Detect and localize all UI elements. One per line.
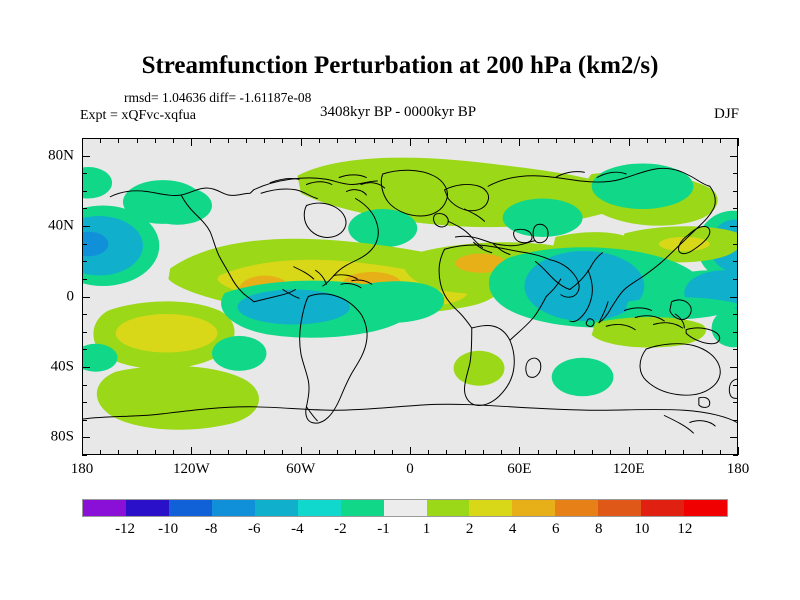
x-axis-label: 60E <box>507 461 531 478</box>
x-axis-tick <box>100 450 101 455</box>
x-axis-tick <box>665 450 666 455</box>
x-axis-tick <box>720 138 721 143</box>
x-axis-tick <box>392 450 393 455</box>
x-axis-tick <box>264 138 265 143</box>
x-axis-tick <box>282 138 283 143</box>
x-axis-tick <box>501 450 502 455</box>
x-axis-tick <box>465 450 466 455</box>
x-axis-tick <box>592 450 593 455</box>
colorbar-segment <box>298 500 341 516</box>
colorbar-segment <box>169 500 212 516</box>
y-axis-tick <box>730 297 738 298</box>
y-axis-tick <box>82 385 87 386</box>
x-axis-tick <box>301 138 302 146</box>
x-axis-tick <box>610 138 611 143</box>
colorbar-segment <box>126 500 169 516</box>
x-axis-tick <box>556 450 557 455</box>
x-axis-tick <box>173 138 174 143</box>
x-axis-tick <box>428 138 429 143</box>
x-axis-tick <box>483 138 484 143</box>
x-axis-label: 180 <box>71 461 94 478</box>
x-axis-tick <box>574 450 575 455</box>
y-axis-tick <box>82 261 87 262</box>
y-axis-tick <box>82 437 90 438</box>
y-axis-tick <box>82 226 90 227</box>
colorbar-tick-label: -2 <box>334 521 347 538</box>
colorbar-tick-label: 10 <box>634 521 649 538</box>
colorbar-segment <box>341 500 384 516</box>
x-axis-tick <box>246 138 247 143</box>
y-axis-tick <box>733 173 738 174</box>
y-axis-tick <box>733 402 738 403</box>
y-axis-tick <box>82 367 90 368</box>
x-axis-tick <box>446 450 447 455</box>
x-axis-tick <box>410 138 411 146</box>
y-axis-tick <box>733 420 738 421</box>
y-axis-tick <box>82 279 87 280</box>
colorbar-tick-label: -4 <box>291 521 304 538</box>
colorbar <box>82 499 728 517</box>
y-axis-label: 40N <box>26 218 74 235</box>
period-annotation: 3408kyr BP - 0000kyr BP <box>320 104 476 121</box>
colorbar-segment <box>469 500 512 516</box>
x-axis-tick <box>355 138 356 143</box>
x-axis-tick <box>191 138 192 146</box>
x-axis-tick <box>228 450 229 455</box>
x-axis-label: 60W <box>286 461 315 478</box>
x-axis-tick <box>647 450 648 455</box>
y-axis-tick <box>82 297 90 298</box>
x-axis-label: 180 <box>727 461 750 478</box>
x-axis-tick <box>100 138 101 143</box>
x-axis-tick <box>337 450 338 455</box>
colorbar-tick-label: 6 <box>552 521 560 538</box>
y-axis-tick <box>733 314 738 315</box>
x-axis-tick <box>392 138 393 143</box>
x-axis-tick <box>82 447 83 455</box>
x-axis-tick <box>210 450 211 455</box>
x-axis-tick <box>501 138 502 143</box>
x-axis-tick <box>610 450 611 455</box>
y-axis-tick <box>82 156 90 157</box>
x-axis-tick <box>155 450 156 455</box>
colorbar-tick-label: 8 <box>595 521 603 538</box>
y-axis-label: 0 <box>26 288 74 305</box>
colorbar-segment <box>555 500 598 516</box>
x-axis-tick <box>137 138 138 143</box>
x-axis-tick <box>702 450 703 455</box>
x-axis-tick <box>738 138 739 146</box>
y-axis-tick <box>733 455 738 456</box>
y-axis-tick <box>733 385 738 386</box>
x-axis-tick <box>592 138 593 143</box>
x-axis-tick <box>374 450 375 455</box>
x-axis-tick <box>228 138 229 143</box>
colorbar-tick-label: 12 <box>677 521 692 538</box>
y-axis-tick <box>733 332 738 333</box>
colorbar-segment <box>83 500 126 516</box>
colorbar-segment <box>255 500 298 516</box>
y-axis-tick <box>733 208 738 209</box>
experiment-annotation: Expt = xQFvc-xqfua <box>80 108 196 124</box>
x-axis-tick <box>319 138 320 143</box>
x-axis-tick <box>301 447 302 455</box>
x-axis-tick <box>355 450 356 455</box>
y-axis-tick <box>733 279 738 280</box>
x-axis-tick <box>210 138 211 143</box>
y-axis-tick <box>82 173 87 174</box>
x-axis-tick <box>720 450 721 455</box>
y-axis-tick <box>733 191 738 192</box>
colorbar-segment <box>684 500 727 516</box>
y-axis-tick <box>82 402 87 403</box>
x-axis-tick <box>118 138 119 143</box>
x-axis-tick <box>519 447 520 455</box>
colorbar-tick-label: 2 <box>466 521 474 538</box>
y-axis-tick <box>82 420 87 421</box>
season-annotation: DJF <box>714 106 739 123</box>
x-axis-tick <box>629 138 630 146</box>
x-axis-tick <box>465 138 466 143</box>
y-axis-tick <box>82 349 87 350</box>
colorbar-segment <box>641 500 684 516</box>
x-axis-tick <box>319 450 320 455</box>
colorbar-tick-label: 1 <box>423 521 431 538</box>
colorbar-segment <box>212 500 255 516</box>
y-axis-tick <box>82 455 87 456</box>
x-axis-label: 0 <box>406 461 414 478</box>
y-axis-label: 80S <box>26 429 74 446</box>
y-axis-tick <box>730 156 738 157</box>
y-axis-tick <box>82 138 87 139</box>
y-axis-tick <box>82 191 87 192</box>
y-axis-label: 80N <box>26 147 74 164</box>
x-axis-tick <box>282 450 283 455</box>
x-axis-tick <box>246 450 247 455</box>
y-axis-tick <box>82 244 87 245</box>
colorbar-tick-label: -1 <box>377 521 390 538</box>
x-axis-tick <box>538 450 539 455</box>
y-axis-tick <box>730 226 738 227</box>
x-axis-tick <box>647 138 648 143</box>
x-axis-tick <box>264 450 265 455</box>
x-axis-tick <box>374 138 375 143</box>
x-axis-tick <box>683 450 684 455</box>
x-axis-tick <box>337 138 338 143</box>
x-axis-tick <box>118 450 119 455</box>
colorbar-segment <box>598 500 641 516</box>
x-axis-tick <box>702 138 703 143</box>
colorbar-segment <box>512 500 555 516</box>
x-axis-tick <box>191 447 192 455</box>
x-axis-tick <box>446 138 447 143</box>
x-axis-tick <box>574 138 575 143</box>
x-axis-label: 120E <box>613 461 645 478</box>
page-title: Streamfunction Perturbation at 200 hPa (… <box>0 52 800 80</box>
y-axis-label: 40S <box>26 358 74 375</box>
x-axis-tick <box>738 447 739 455</box>
x-axis-tick <box>483 450 484 455</box>
colorbar-tick-label: 4 <box>509 521 517 538</box>
x-axis-label: 120W <box>173 461 210 478</box>
y-axis-tick <box>82 314 87 315</box>
map-plot-area <box>82 138 738 455</box>
figure-root: Streamfunction Perturbation at 200 hPa (… <box>0 0 800 600</box>
x-axis-tick <box>665 138 666 143</box>
colorbar-tick-label: -12 <box>115 521 135 538</box>
colorbar-tick-label: -6 <box>248 521 261 538</box>
colorbar-segment <box>384 500 427 516</box>
y-axis-tick <box>82 332 87 333</box>
y-axis-tick <box>733 138 738 139</box>
x-axis-tick <box>137 450 138 455</box>
x-axis-tick <box>428 450 429 455</box>
y-axis-tick <box>733 349 738 350</box>
colorbar-segment <box>427 500 470 516</box>
y-axis-tick <box>730 437 738 438</box>
rmsd-annotation: rmsd= 1.04636 diff= -1.61187e-08 <box>124 90 311 106</box>
colorbar-tick-label: -8 <box>205 521 218 538</box>
y-axis-tick <box>82 208 87 209</box>
x-axis-tick <box>519 138 520 146</box>
x-axis-tick <box>173 450 174 455</box>
x-axis-tick <box>538 138 539 143</box>
x-axis-tick <box>683 138 684 143</box>
x-axis-tick <box>629 447 630 455</box>
world-map-contours <box>83 139 737 454</box>
y-axis-tick <box>733 261 738 262</box>
y-axis-tick <box>730 367 738 368</box>
x-axis-tick <box>155 138 156 143</box>
colorbar-tick-label: -10 <box>158 521 178 538</box>
y-axis-tick <box>733 244 738 245</box>
x-axis-tick <box>82 138 83 146</box>
x-axis-tick <box>410 447 411 455</box>
x-axis-tick <box>556 138 557 143</box>
